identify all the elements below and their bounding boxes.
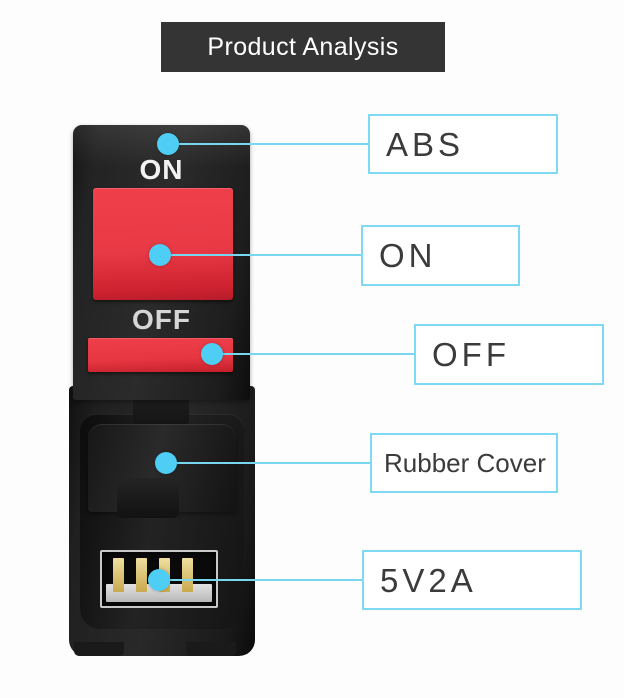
- callout-label-5v2a: 5V2A: [362, 550, 582, 610]
- callout-label-abs-text: ABS: [370, 128, 464, 161]
- page-title: Product Analysis: [207, 35, 398, 60]
- callout-dot-rubber-cover: [155, 452, 177, 474]
- usb-pin-2: [136, 558, 147, 592]
- leader-line-5v2a: [159, 579, 362, 581]
- usb-pin-1: [113, 558, 124, 592]
- callout-label-abs: ABS: [368, 114, 558, 174]
- rubber-cover-tab[interactable]: [117, 478, 179, 518]
- device-foot-right: [186, 642, 236, 656]
- callout-label-off: OFF: [414, 324, 604, 385]
- leader-line-on: [160, 254, 361, 256]
- device-on-marking: ON: [73, 156, 250, 184]
- page-title-banner: Product Analysis: [161, 22, 445, 72]
- usb-pin-4: [182, 558, 193, 592]
- callout-dot-off: [201, 343, 223, 365]
- callout-label-on: ON: [361, 225, 520, 286]
- callout-dot-on: [149, 244, 171, 266]
- callout-label-rubber-cover-text: Rubber Cover: [372, 450, 546, 476]
- device-off-marking: OFF: [73, 306, 250, 334]
- callout-label-5v2a-text: 5V2A: [364, 564, 477, 597]
- callout-label-rubber-cover: Rubber Cover: [370, 433, 558, 493]
- callout-label-on-text: ON: [363, 239, 437, 272]
- callout-dot-5v2a: [148, 569, 170, 591]
- device-foot-left: [74, 642, 124, 656]
- leader-line-off: [212, 353, 414, 355]
- leader-line-abs: [168, 143, 368, 145]
- callout-label-off-text: OFF: [416, 338, 510, 371]
- callout-dot-abs: [157, 133, 179, 155]
- leader-line-rubber-cover: [166, 462, 370, 464]
